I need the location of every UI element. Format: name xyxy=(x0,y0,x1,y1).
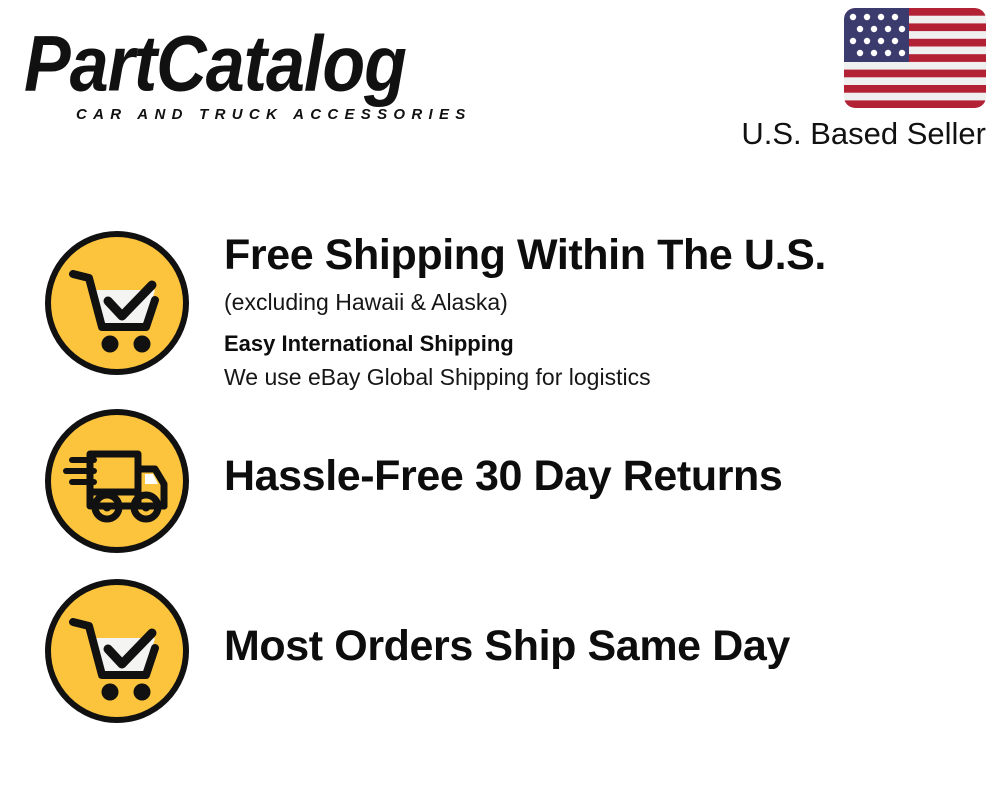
feature-text: Free Shipping Within The U.S. (excluding… xyxy=(224,228,826,391)
brand-tagline: CAR AND TRUCK ACCESSORIES xyxy=(76,106,472,123)
brand-wordmark: PartCatalog xyxy=(24,22,494,105)
feature-title: Free Shipping Within The U.S. xyxy=(224,230,826,280)
promo-banner: PartCatalog CAR AND TRUCK ACCESSORIES xyxy=(0,0,1000,800)
feature-row: Hassle-Free 30 Day Returns xyxy=(42,406,782,556)
us-based-seller-label: U.S. Based Seller xyxy=(716,116,986,152)
feature-text: Most Orders Ship Same Day xyxy=(224,576,790,671)
delivery-truck-icon xyxy=(42,406,192,556)
shopping-cart-check-icon xyxy=(42,576,192,726)
shopping-cart-check-icon xyxy=(42,228,192,378)
feature-title: Most Orders Ship Same Day xyxy=(224,621,790,671)
feature-row: Most Orders Ship Same Day xyxy=(42,576,790,726)
feature-sub-note: We use eBay Global Shipping for logistic… xyxy=(224,363,826,391)
us-based-seller-block: U.S. Based Seller xyxy=(716,8,986,152)
feature-row: Free Shipping Within The U.S. (excluding… xyxy=(42,228,826,391)
us-flag-icon xyxy=(844,8,986,108)
feature-note: (excluding Hawaii & Alaska) xyxy=(224,288,826,316)
brand-logo: PartCatalog CAR AND TRUCK ACCESSORIES xyxy=(24,22,494,117)
feature-text: Hassle-Free 30 Day Returns xyxy=(224,406,782,501)
feature-sub-title: Easy International Shipping xyxy=(224,330,826,357)
feature-title: Hassle-Free 30 Day Returns xyxy=(224,451,782,501)
